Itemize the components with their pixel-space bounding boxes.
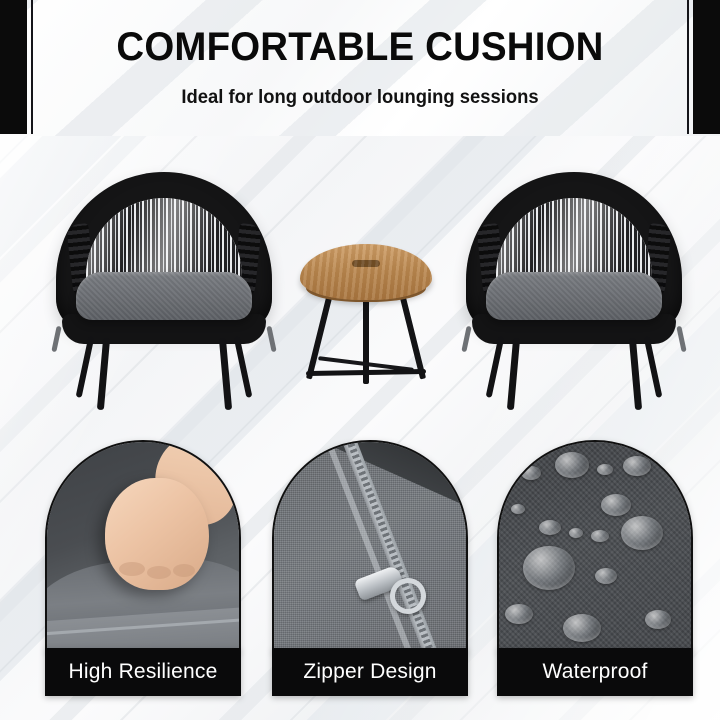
feature-image-zipper-design <box>272 440 468 652</box>
product-infographic: COMFORTABLE CUSHION Ideal for long outdo… <box>0 0 720 720</box>
chair-seat-cushion <box>76 272 252 320</box>
water-droplet <box>523 546 575 590</box>
feature-panel-row: High Resilience Zipper Design Waterproo <box>0 432 720 720</box>
water-droplet <box>505 604 533 624</box>
feature-label-zipper-design: Zipper Design <box>272 648 468 696</box>
feature-label-high-resilience: High Resilience <box>45 648 241 696</box>
cushion-tie-left <box>51 326 61 352</box>
water-droplet <box>555 452 589 478</box>
feature-image-high-resilience <box>45 440 241 652</box>
cushion-tie-right <box>676 326 686 352</box>
chair-leg-front-right <box>629 338 642 410</box>
feature-panel-zipper-design: Zipper Design <box>272 440 468 702</box>
triangular-side-table <box>300 244 432 384</box>
page-subtitle: Ideal for long outdoor lounging sessions <box>11 88 709 107</box>
water-droplet <box>539 520 561 535</box>
water-droplet <box>511 504 525 514</box>
chair-leg-front-left <box>97 338 110 410</box>
header-left-black-bar <box>0 0 27 134</box>
knuckle <box>173 564 195 577</box>
cushion-tie-right <box>266 326 276 352</box>
water-droplet <box>569 528 583 538</box>
water-droplet <box>521 466 541 480</box>
chair-leg-front-left <box>507 338 520 410</box>
knuckle <box>147 566 171 579</box>
water-droplet <box>591 530 609 542</box>
chair-seat-cushion <box>486 272 662 320</box>
rope-lounge-chair-right <box>458 150 690 412</box>
feature-panel-high-resilience: High Resilience <box>45 440 241 702</box>
rope-lounge-chair-left <box>48 150 280 412</box>
chair-leg-front-right <box>219 338 232 410</box>
header-banner: COMFORTABLE CUSHION Ideal for long outdo… <box>0 0 720 136</box>
feature-label-waterproof: Waterproof <box>497 648 693 696</box>
page-title: COMFORTABLE CUSHION <box>14 27 705 67</box>
hero-product-scene <box>0 136 720 432</box>
water-droplet <box>601 494 631 516</box>
water-droplet <box>645 610 671 629</box>
table-leg-left <box>306 297 332 380</box>
chair-leg-back-left <box>76 336 95 398</box>
table-wood-top <box>300 244 432 300</box>
header-left-rule <box>31 0 33 134</box>
chair-leg-back-left <box>486 336 505 398</box>
header-right-rule <box>687 0 689 134</box>
water-droplet <box>621 516 663 550</box>
feature-panel-waterproof: Waterproof <box>497 440 693 702</box>
chair-leg-back-right <box>644 336 663 398</box>
cushion-tie-left <box>461 326 471 352</box>
water-droplet <box>595 568 617 584</box>
feature-image-waterproof <box>497 440 693 652</box>
table-base-rail <box>306 369 426 376</box>
chair-leg-back-right <box>234 336 253 398</box>
water-droplet <box>563 614 601 642</box>
water-droplet <box>623 456 651 476</box>
water-droplet <box>597 464 613 475</box>
table-handle-slot <box>352 260 380 267</box>
header-right-black-bar <box>693 0 720 134</box>
knuckle <box>119 562 145 576</box>
